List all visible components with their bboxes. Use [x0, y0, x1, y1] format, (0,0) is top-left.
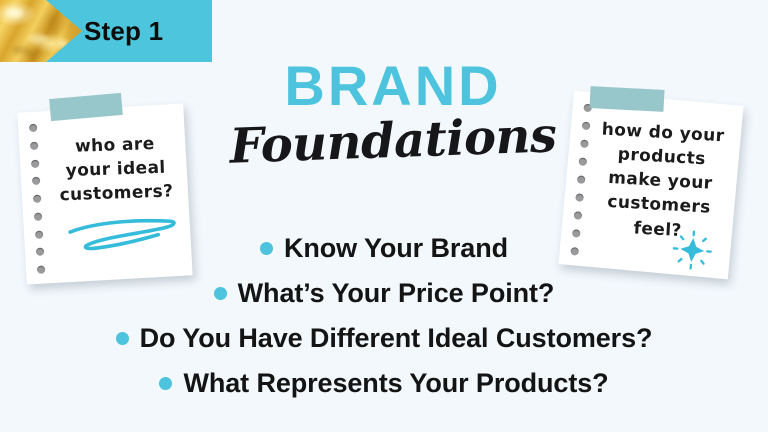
bullet-item-1: Know Your Brand [0, 226, 768, 271]
bullet-dot-icon [116, 332, 129, 345]
title-block: BRAND Foundations [228, 58, 558, 166]
punch-hole [582, 122, 591, 131]
bullet-item-4: What Represents Your Products? [0, 361, 768, 406]
page-title-brand: BRAND [228, 58, 558, 114]
bullet-item-3: Do You Have Different Ideal Customers? [0, 316, 768, 361]
punch-hole [30, 141, 38, 149]
bullet-label: Know Your Brand [284, 233, 508, 264]
bullet-dot-icon [260, 242, 273, 255]
washi-tape-right [589, 86, 664, 112]
punch-hole [32, 177, 40, 185]
punch-hole [34, 212, 42, 220]
punch-hole [33, 195, 41, 203]
punch-hole [575, 193, 584, 202]
bullet-list: Know Your Brand What’s Your Price Point?… [0, 226, 768, 406]
bullet-label: What’s Your Price Point? [238, 278, 555, 309]
slide-canvas: Step 1 BRAND Foundations who are your id… [0, 0, 768, 432]
punch-hole [578, 157, 587, 166]
punch-hole [580, 139, 589, 148]
bullet-label: Do You Have Different Ideal Customers? [140, 323, 653, 354]
bullet-item-2: What’s Your Price Point? [0, 271, 768, 316]
bullet-dot-icon [159, 377, 172, 390]
punch-hole [574, 211, 583, 220]
punch-hole [31, 159, 39, 167]
punch-hole [29, 124, 37, 132]
page-title-foundations: Foundations [227, 110, 559, 172]
punch-hole [577, 175, 586, 184]
bullet-dot-icon [214, 287, 227, 300]
step-label: Step 1 [84, 0, 163, 62]
sticky-note-left-text: who are your ideal customers? [49, 131, 181, 208]
bullet-label: What Represents Your Products? [183, 368, 608, 399]
